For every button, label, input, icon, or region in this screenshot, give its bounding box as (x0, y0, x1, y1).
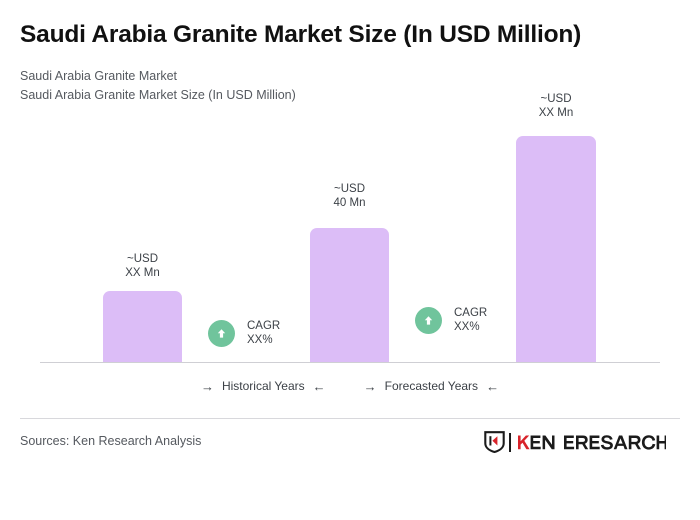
bar-value-label-line1: ~USD (103, 252, 182, 266)
bar-value-label: ~USD XX Mn (516, 92, 596, 120)
chart-plot-area: ~USD XX Mn ~USD 40 Mn ~USD XX Mn CAGR XX… (0, 0, 700, 420)
cagr-label: CAGR XX% (247, 319, 280, 347)
source-note: Sources: Ken Research Analysis (20, 434, 201, 448)
axis-period-label: Historical Years (222, 379, 305, 393)
arrow-right-icon: → (201, 380, 214, 393)
brand-wordmark (516, 434, 666, 451)
infographic-canvas: Saudi Arabia Granite Market Size (In USD… (0, 0, 700, 520)
axis-period-forecasted: → Forecasted Years ← (364, 379, 499, 393)
bar-value-label-line2: XX Mn (516, 106, 596, 120)
bar-interim (310, 228, 389, 362)
cagr-label-line1: CAGR (454, 306, 487, 320)
arrow-right-icon: → (364, 380, 377, 393)
cagr-label-line2: XX% (454, 320, 487, 334)
brand-logo (484, 431, 666, 453)
arrow-up-icon (415, 307, 442, 334)
arrow-up-icon (208, 320, 235, 347)
cagr-label-line2: XX% (247, 333, 280, 347)
axis-period-historical: → Historical Years ← (201, 379, 326, 393)
axis-period-row: → Historical Years ← → Forecasted Years … (0, 379, 700, 393)
arrow-left-icon: ← (486, 380, 499, 393)
brand-divider (509, 433, 511, 452)
chart-baseline (40, 362, 660, 363)
cagr-label-line1: CAGR (247, 319, 280, 333)
bar-value-label-line2: XX Mn (103, 266, 182, 280)
arrow-left-icon: ← (313, 380, 326, 393)
cagr-label: CAGR XX% (454, 306, 487, 334)
bar-value-label: ~USD 40 Mn (310, 182, 389, 210)
bar-value-label-line2: 40 Mn (310, 196, 389, 210)
bar-value-label-line1: ~USD (310, 182, 389, 196)
cagr-marker-forecast: CAGR XX% (415, 306, 487, 334)
ken-research-shield-icon (484, 431, 505, 453)
axis-period-label: Forecasted Years (385, 379, 478, 393)
bar-value-label-line1: ~USD (516, 92, 596, 106)
bar-forecast (516, 136, 596, 362)
bar-value-label: ~USD XX Mn (103, 252, 182, 280)
footer-divider (20, 418, 680, 419)
bar-historical (103, 291, 182, 362)
cagr-marker-historical: CAGR XX% (208, 319, 280, 347)
